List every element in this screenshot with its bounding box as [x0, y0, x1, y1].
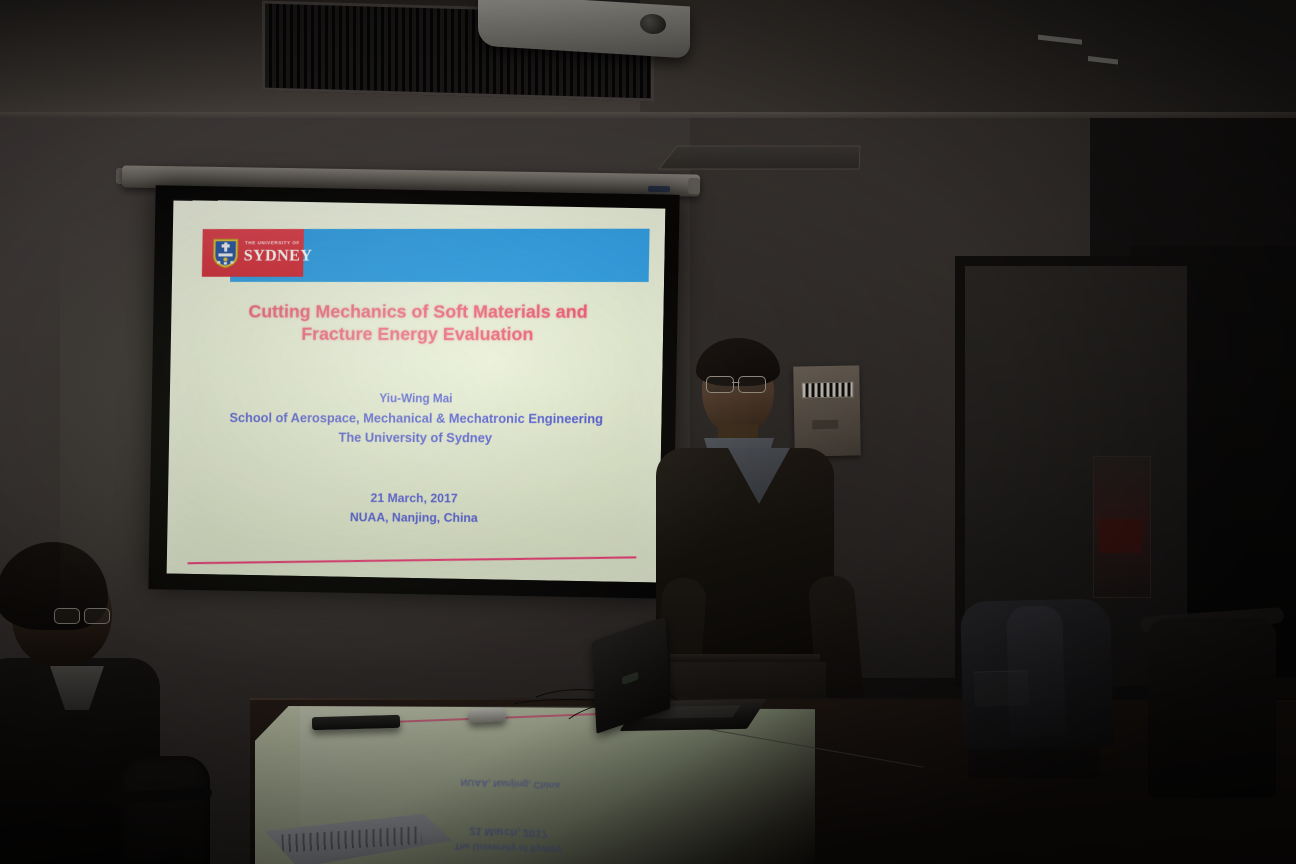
reflection-line-3: NUAA, Nanjing, China — [330, 769, 690, 796]
attendee-chair — [118, 756, 210, 864]
paper-printed-lines — [281, 826, 422, 853]
presenter-sweater — [656, 448, 834, 664]
slide-title-line-2: Fracture Energy Evaluation — [194, 323, 643, 346]
slide-date: 21 March, 2017 — [191, 488, 640, 509]
presenter-v-neck-shirt — [728, 448, 790, 504]
coat-draped-on-chair — [960, 598, 1114, 750]
recessed-light-panel — [658, 146, 860, 170]
slide-affiliation-school: School of Aerospace, Mechanical & Mechat… — [192, 409, 641, 430]
slide-author-block: Yiu-Wing Mai School of Aerospace, Mechan… — [192, 390, 642, 449]
attendee-lens-left — [54, 608, 80, 624]
eyeglass-lens-left — [706, 376, 734, 393]
presenter-eyeglasses-icon — [706, 376, 772, 391]
screen-housing-badge — [648, 186, 670, 192]
wall-notice-sign — [1093, 456, 1151, 598]
office-chair-far-right — [1148, 618, 1276, 798]
logo-wordmark: SYDNEY — [244, 247, 313, 265]
logo-eyebrow-text: THE UNIVERSITY OF — [245, 240, 300, 245]
screen-surface: THE UNIVERSITY OF SYDNEY Cutting Mechani… — [167, 200, 666, 583]
projection-screen: THE UNIVERSITY OF SYDNEY Cutting Mechani… — [148, 185, 679, 599]
slide-bottom-rule — [188, 556, 637, 564]
slide-title-line-1: Cutting Mechanics of Soft Materials and — [194, 300, 643, 323]
table-remote-control — [312, 715, 400, 730]
attendee-lens-right — [84, 608, 110, 624]
screen-housing-bracket-right — [688, 178, 700, 194]
university-logo-block: THE UNIVERSITY OF SYDNEY — [202, 229, 304, 277]
presenter-figure — [636, 336, 866, 736]
university-crest-icon — [212, 238, 239, 268]
eyeglass-lens-right — [738, 376, 766, 393]
attendee-eyeglasses-icon — [54, 608, 114, 622]
slide-affiliation-university: The University of Sydney — [192, 428, 641, 450]
slide-header-bar — [303, 229, 649, 266]
slide-author-name: Yiu-Wing Mai — [192, 390, 641, 409]
projected-slide: THE UNIVERSITY OF SYDNEY Cutting Mechani… — [167, 200, 666, 583]
slide-event-block: 21 March, 2017 NUAA, Nanjing, China — [190, 488, 639, 528]
laptop-lid-logo — [622, 672, 638, 685]
notice-sign-panel — [1100, 519, 1142, 553]
coat-pocket — [974, 670, 1029, 706]
presentation-clicker — [468, 707, 507, 723]
slide-venue: NUAA, Nanjing, China — [190, 507, 639, 528]
seated-attendee — [0, 540, 220, 864]
conference-room-photo: THE UNIVERSITY OF SYDNEY Cutting Mechani… — [0, 0, 1296, 864]
slide-title: Cutting Mechanics of Soft Materials and … — [194, 300, 644, 346]
